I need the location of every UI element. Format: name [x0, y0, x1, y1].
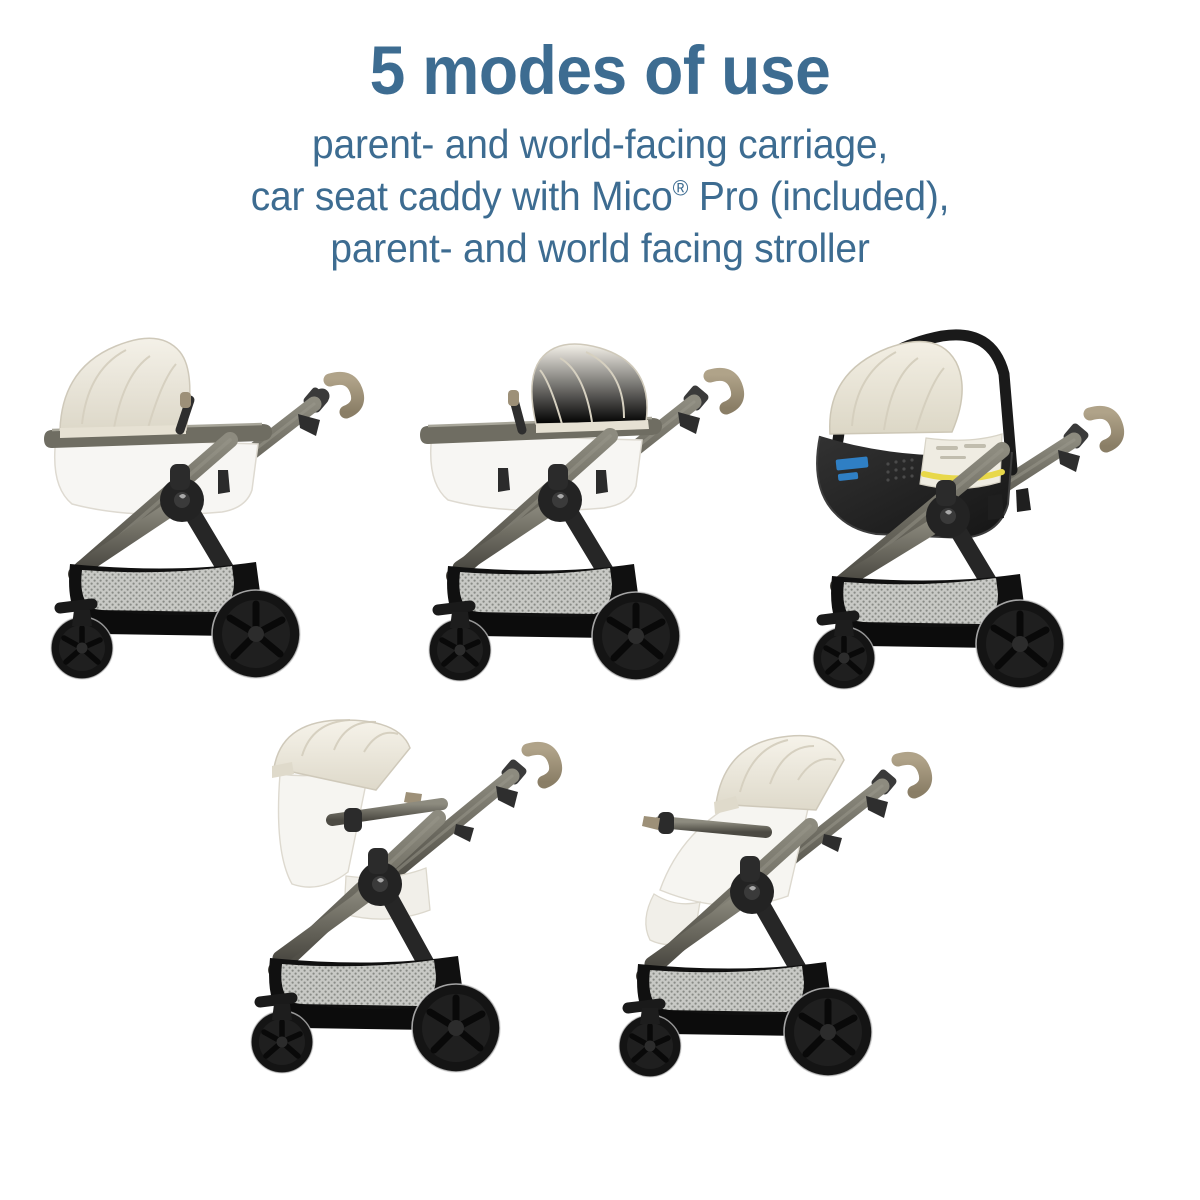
page-title: 5 modes of use — [42, 0, 1158, 108]
subtitle-line-2-text-a: car seat caddy with Mico — [251, 173, 673, 219]
stroller-illustration-5 — [598, 708, 958, 1098]
subtitle-line-2-text-b: Pro (included), — [688, 173, 949, 219]
product-feature-image: 5 modes of use parent- and world-facing … — [0, 0, 1200, 1200]
mode-5-world-facing-stroller — [598, 708, 958, 1098]
subtitle-line-2: car seat caddy with Mico® Pro (included)… — [30, 170, 1170, 222]
page-subtitle: parent- and world-facing carriage, car s… — [30, 108, 1170, 274]
stroller-illustration-1 — [30, 318, 390, 708]
mode-4-parent-facing-stroller — [228, 708, 588, 1098]
subtitle-line-3: parent- and world facing stroller — [30, 222, 1170, 274]
mode-2-world-facing-carriage — [410, 318, 770, 708]
mode-1-parent-facing-carriage — [30, 318, 390, 708]
stroller-illustration-4 — [228, 708, 588, 1098]
header: 5 modes of use parent- and world-facing … — [0, 0, 1200, 274]
subtitle-line-1: parent- and world-facing carriage, — [30, 118, 1170, 170]
stroller-illustration-3 — [790, 318, 1150, 708]
modes-gallery — [0, 318, 1200, 1198]
mode-3-car-seat-caddy — [790, 318, 1150, 708]
stroller-illustration-2 — [410, 318, 770, 708]
registered-trademark-icon: ® — [673, 175, 689, 200]
